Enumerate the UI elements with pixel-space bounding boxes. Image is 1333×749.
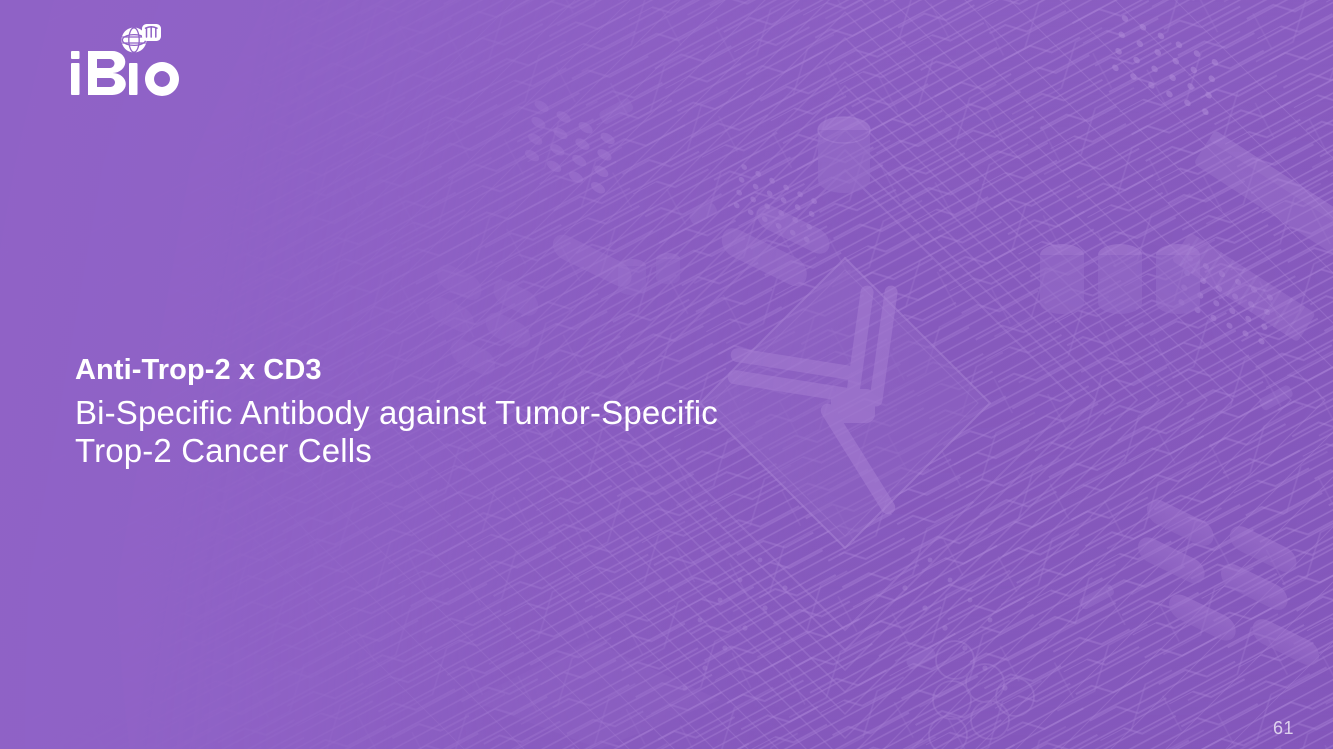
title-block: Anti-Trop-2 x CD3 Bi-Specific Antibody a… [75,352,835,470]
ibio-logo[interactable] [68,22,198,100]
dna-badge-icon [142,24,161,41]
capacitor-top-center [818,117,870,193]
page-title: Anti-Trop-2 x CD3 [75,352,835,388]
page-subtitle-line-1: Bi-Specific Antibody against Tumor-Speci… [75,394,718,431]
page-subtitle-line-2: Trop-2 Cancer Cells [75,432,372,469]
page-subtitle: Bi-Specific Antibody against Tumor-Speci… [75,394,835,470]
page-number: 61 [1273,718,1294,739]
ibio-wordmark [71,51,179,96]
slide: Anti-Trop-2 x CD3 Bi-Specific Antibody a… [0,0,1333,749]
